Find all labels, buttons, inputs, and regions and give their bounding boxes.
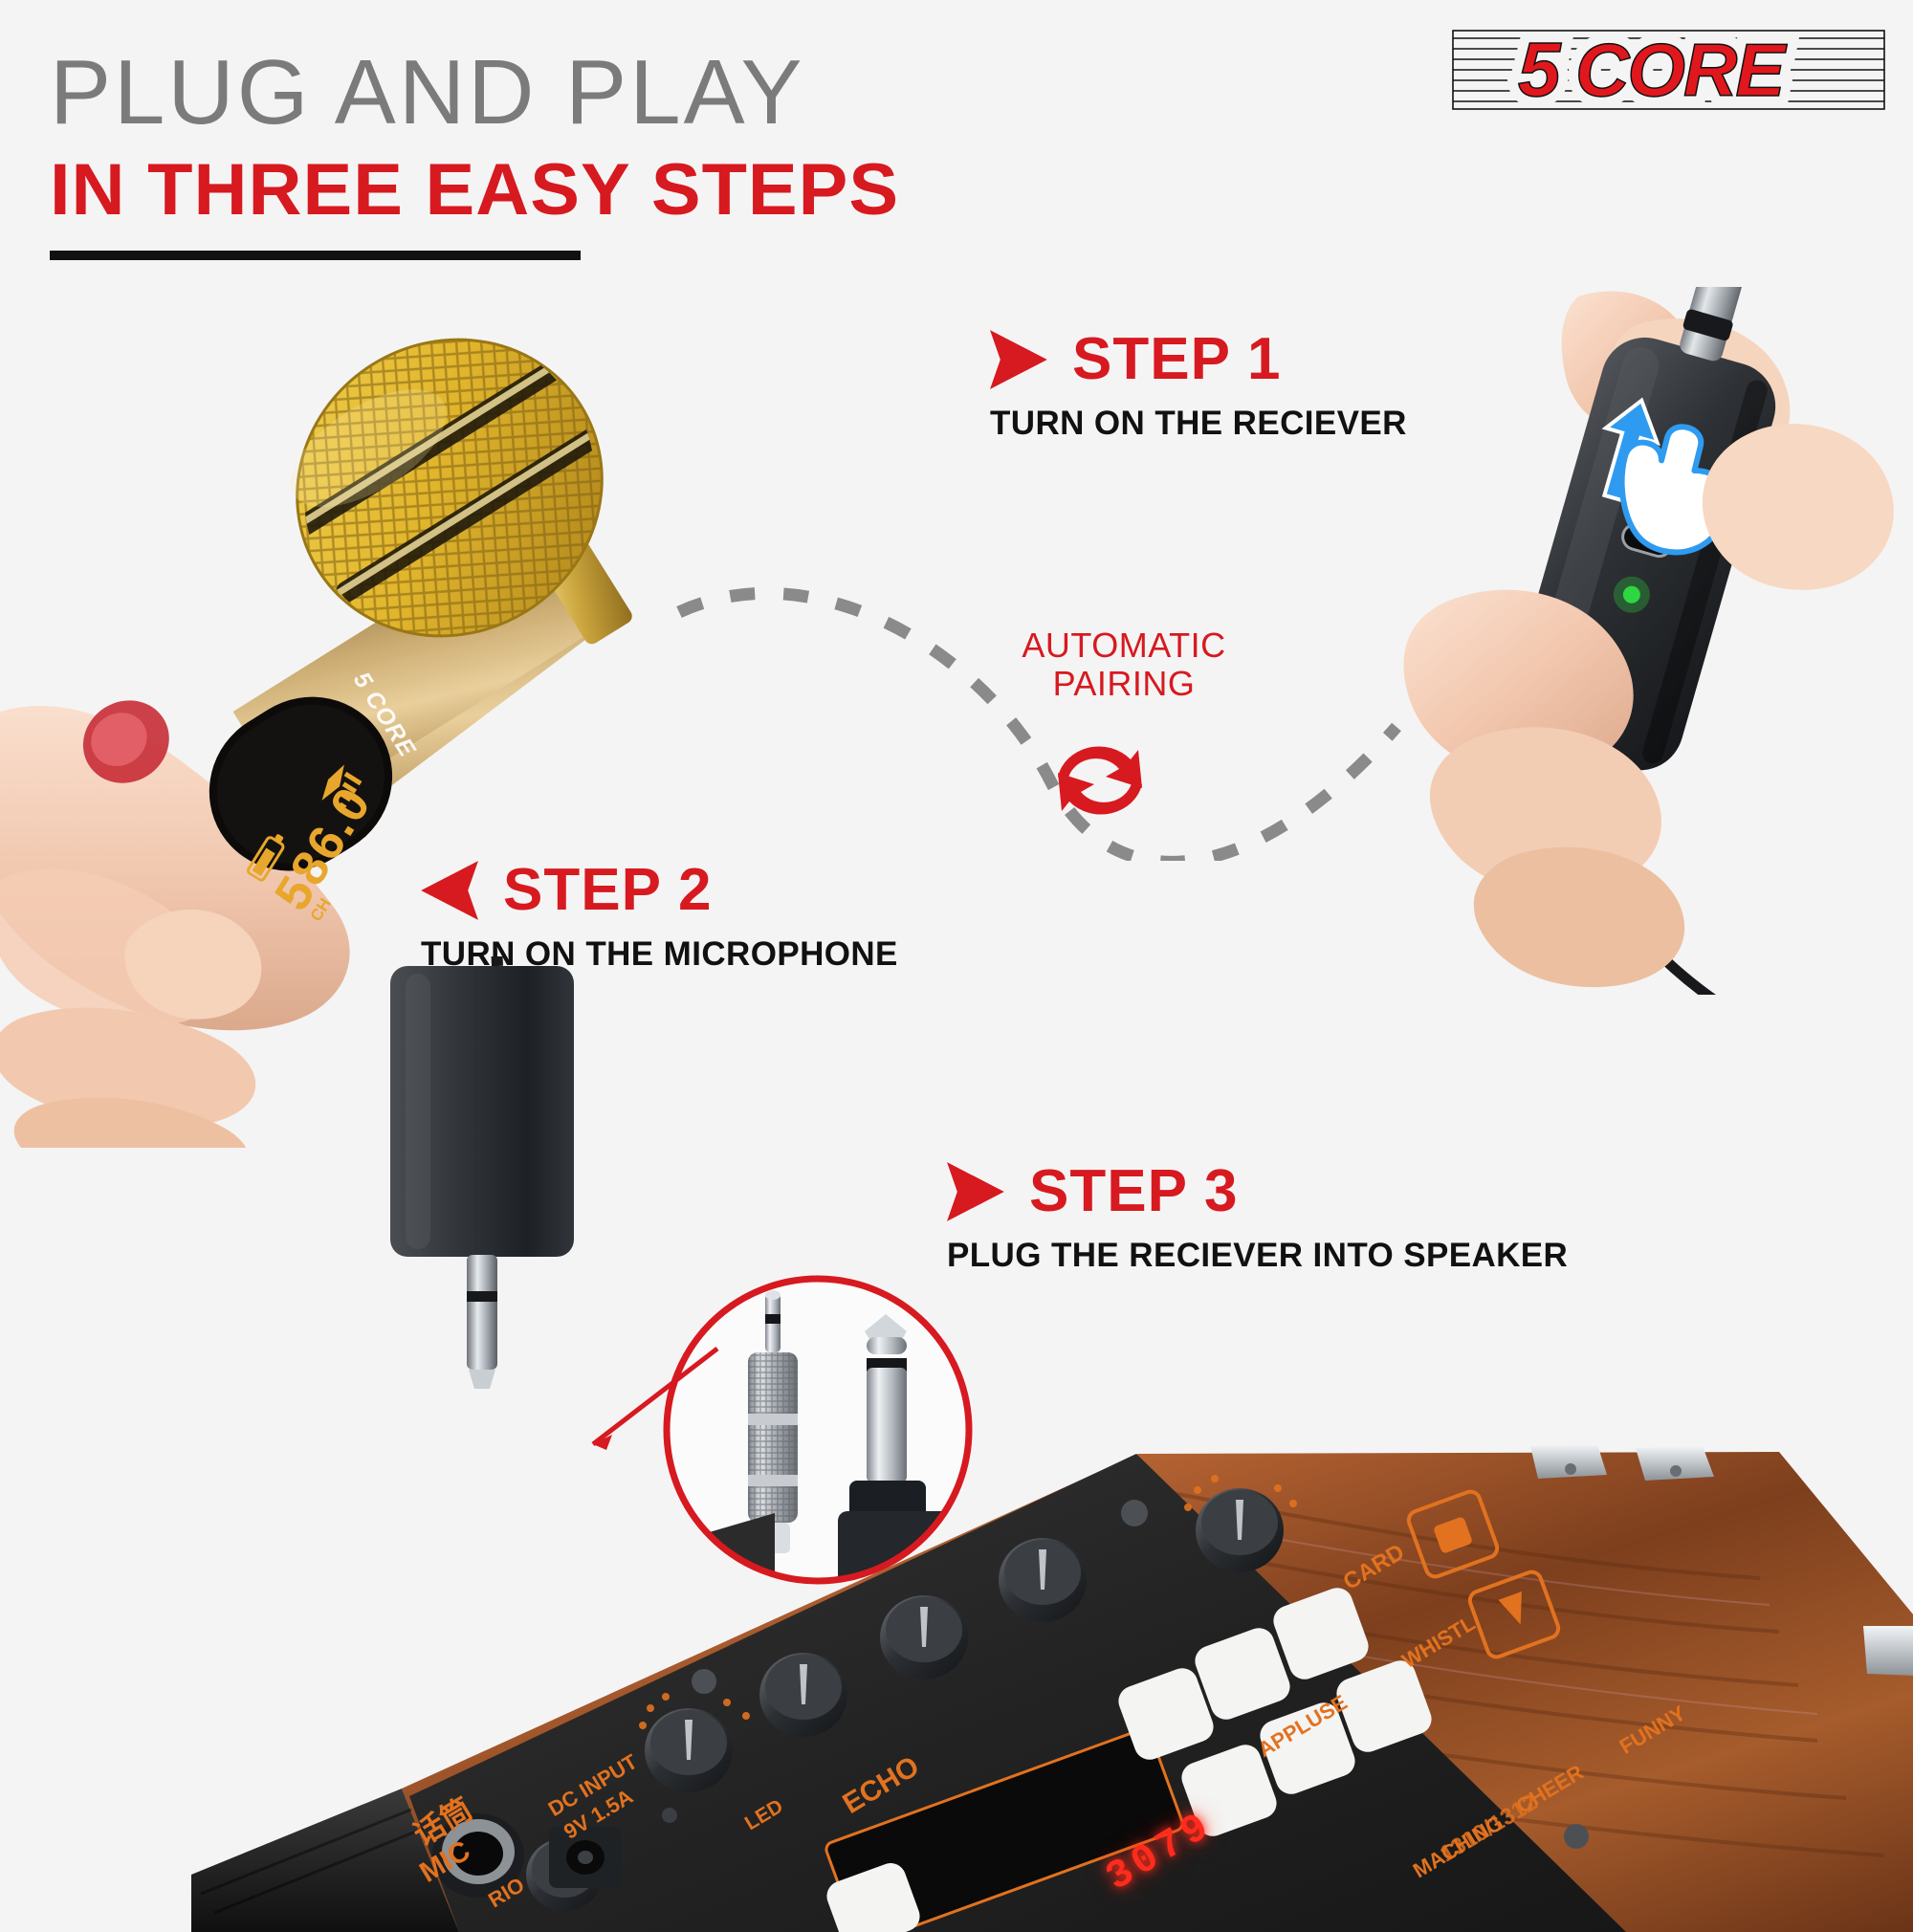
pairing-label-line1: AUTOMATIC bbox=[1004, 626, 1243, 665]
logo-digit: 5 bbox=[1518, 27, 1562, 112]
step-3-block: STEP 3 PLUG THE RECIEVER INTO SPEAKER bbox=[947, 1162, 1568, 1275]
step-1-description: TURN ON THE RECIEVER bbox=[990, 405, 1407, 443]
step-1-title: STEP 1 bbox=[1072, 330, 1282, 389]
infographic-canvas: PLUG AND PLAY IN THREE EASY STEPS 5 CORE… bbox=[0, 0, 1913, 1913]
pairing-label: AUTOMATIC PAIRING bbox=[1004, 626, 1243, 704]
step-3-title: STEP 3 bbox=[1029, 1162, 1239, 1221]
page-title-secondary: IN THREE EASY STEPS bbox=[50, 153, 899, 228]
triangle-right-icon bbox=[990, 330, 1047, 389]
triangle-right-icon bbox=[947, 1162, 1004, 1221]
step-3-description: PLUG THE RECIEVER INTO SPEAKER bbox=[947, 1237, 1568, 1275]
step-1-block: STEP 1 TURN ON THE RECIEVER bbox=[990, 330, 1407, 443]
receiver-illustration bbox=[1387, 287, 1913, 995]
panel-led bbox=[662, 1808, 677, 1823]
brand-logo: 5 CORE 5 CORE bbox=[1451, 17, 1886, 117]
pairing-label-line2: PAIRING bbox=[1004, 665, 1243, 703]
sync-arrows-icon bbox=[1043, 727, 1157, 832]
title-underline bbox=[50, 251, 581, 260]
logo-word: CORE bbox=[1575, 28, 1787, 112]
page-title-primary: PLUG AND PLAY bbox=[50, 46, 805, 140]
